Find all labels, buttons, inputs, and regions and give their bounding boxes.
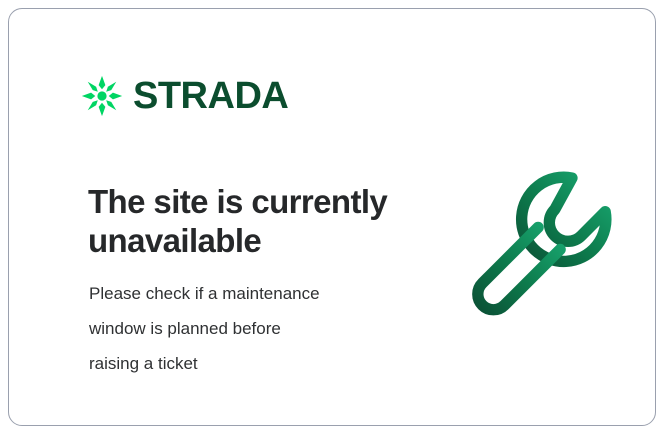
description-line: window is planned before <box>89 312 399 347</box>
error-page: STRADA The site is currently unavailable… <box>0 0 666 436</box>
page-title: The site is currently unavailable <box>88 183 428 261</box>
description-line: Please check if a maintenance <box>89 277 399 312</box>
page-description: Please check if a maintenance window is … <box>89 277 399 382</box>
strada-asterisk-icon <box>81 75 123 117</box>
brand-wordmark: STRADA <box>133 77 288 115</box>
brand-logo: STRADA <box>81 75 288 117</box>
description-line: raising a ticket <box>89 347 399 382</box>
page-card: STRADA The site is currently unavailable… <box>8 8 656 426</box>
